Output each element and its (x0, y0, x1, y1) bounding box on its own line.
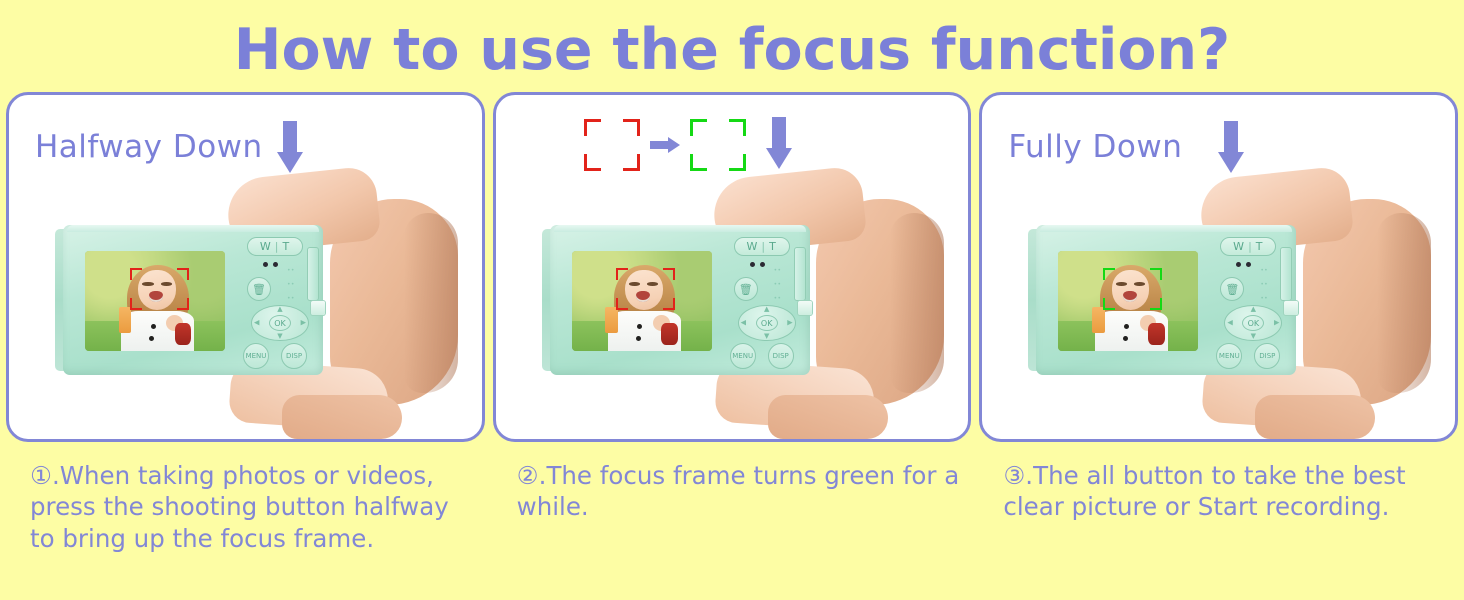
dpad-control[interactable]: ▲ ▼ ◀ ▶ OK (738, 305, 796, 341)
camera-side-slider[interactable] (798, 301, 812, 315)
caption-row: ①.When taking photos or videos, press th… (0, 442, 1464, 592)
focus-frame-green (1103, 268, 1162, 310)
camera-illustration: W | T 🗑 ▲ ▼ ◀ ▶ OK (9, 165, 482, 439)
dpad-right-icon[interactable]: ▶ (1274, 320, 1279, 327)
caption-number: ③. (1003, 461, 1033, 490)
panel-header (752, 117, 792, 169)
panel-label: Halfway Down (35, 129, 263, 165)
camera-side-strip (794, 247, 806, 301)
caption-step-3: ③.The all button to take the best clear … (979, 460, 1458, 592)
camera-side-mark: •• (774, 281, 782, 288)
trash-icon[interactable]: 🗑 (1220, 277, 1244, 301)
page-title: How to use the focus function? (0, 0, 1464, 92)
dpad-left-icon[interactable]: ◀ (741, 320, 746, 327)
panel-header: Halfway Down (35, 121, 303, 173)
menu-button[interactable]: MENU (730, 343, 756, 369)
dpad-right-icon[interactable]: ▶ (301, 320, 306, 327)
panel-header: Fully Down (1008, 121, 1244, 173)
menu-button[interactable]: MENU (1216, 343, 1242, 369)
dpad-left-icon[interactable]: ◀ (254, 320, 259, 327)
caption-text: The all button to take the best clear pi… (1003, 461, 1405, 521)
arrow-down-icon (766, 117, 792, 169)
indicator-leds (750, 262, 765, 267)
dpad-up-icon[interactable]: ▲ (277, 306, 282, 313)
focus-frame-red (130, 268, 189, 310)
camera-side-strip (307, 247, 319, 301)
trash-icon[interactable]: 🗑 (734, 277, 758, 301)
panel-focus-turns-green: W | T 🗑 ▲ ▼ ◀ ▶ OK (493, 92, 972, 442)
panel-label: Fully Down (1008, 129, 1182, 165)
dpad-right-icon[interactable]: ▶ (787, 320, 792, 327)
zoom-rocker-button[interactable]: W | T (734, 237, 790, 256)
camera-side-strip (1280, 247, 1292, 301)
indicator-leds (1236, 262, 1251, 267)
dpad-down-icon[interactable]: ▼ (277, 333, 282, 340)
camera-side-mark: •• (1260, 267, 1268, 274)
camera-side-slider[interactable] (311, 301, 325, 315)
zoom-separator: | (1248, 240, 1253, 253)
camera-lcd-screen (1058, 251, 1198, 351)
camera-side-mark: •• (287, 267, 295, 274)
camera-side-mark: •• (1260, 281, 1268, 288)
disp-button[interactable]: DISP (768, 343, 794, 369)
arrow-down-icon (1218, 121, 1244, 173)
dpad-left-icon[interactable]: ◀ (1227, 320, 1232, 327)
bracket-frame-green-icon (690, 119, 746, 171)
focus-frame-transition-graphic (584, 119, 746, 171)
camera-illustration: W | T 🗑 ▲ ▼ ◀ ▶ OK (496, 165, 969, 439)
ok-button[interactable]: OK (756, 315, 778, 331)
zoom-tele-label: T (1256, 240, 1264, 253)
caption-text: When taking photos or videos, press the … (30, 461, 449, 553)
panel-row: Halfway Down (0, 92, 1464, 442)
menu-button[interactable]: MENU (243, 343, 269, 369)
zoom-wide-label: W (747, 240, 759, 253)
caption-number: ①. (30, 461, 60, 490)
camera-lcd-screen (572, 251, 712, 351)
camera-side-mark: •• (1260, 295, 1268, 302)
dpad-control[interactable]: ▲ ▼ ◀ ▶ OK (251, 305, 309, 341)
caption-number: ②. (517, 461, 547, 490)
indicator-leds (263, 262, 278, 267)
ok-button[interactable]: OK (269, 315, 291, 331)
ok-button[interactable]: OK (1242, 315, 1264, 331)
dpad-control[interactable]: ▲ ▼ ◀ ▶ OK (1224, 305, 1282, 341)
caption-step-1: ①.When taking photos or videos, press th… (6, 460, 485, 592)
caption-text: The focus frame turns green for a while. (517, 461, 960, 521)
camera-side-mark: •• (774, 295, 782, 302)
camera-body: W | T 🗑 ▲ ▼ ◀ ▶ OK (542, 225, 810, 377)
dpad-up-icon[interactable]: ▲ (764, 306, 769, 313)
camera-body: W | T 🗑 ▲ ▼ ◀ ▶ OK (1028, 225, 1296, 377)
zoom-tele-label: T (282, 240, 290, 253)
camera-side-mark: •• (287, 295, 295, 302)
zoom-wide-label: W (1233, 240, 1245, 253)
trash-icon[interactable]: 🗑 (247, 277, 271, 301)
focus-frame-red (616, 268, 675, 310)
camera-side-mark: •• (774, 267, 782, 274)
camera-side-mark: •• (287, 281, 295, 288)
dpad-up-icon[interactable]: ▲ (1251, 306, 1256, 313)
bracket-frame-red-icon (584, 119, 640, 171)
zoom-wide-label: W (260, 240, 272, 253)
panel-fully-down: Fully Down (979, 92, 1458, 442)
zoom-rocker-button[interactable]: W | T (247, 237, 303, 256)
camera-lcd-screen (85, 251, 225, 351)
dpad-down-icon[interactable]: ▼ (764, 333, 769, 340)
camera-illustration: W | T 🗑 ▲ ▼ ◀ ▶ OK (982, 165, 1455, 439)
dpad-down-icon[interactable]: ▼ (1251, 333, 1256, 340)
zoom-separator: | (761, 240, 766, 253)
panel-halfway-down: Halfway Down (6, 92, 485, 442)
zoom-separator: | (275, 240, 280, 253)
camera-side-slider[interactable] (1284, 301, 1298, 315)
disp-button[interactable]: DISP (1254, 343, 1280, 369)
zoom-tele-label: T (769, 240, 777, 253)
caption-step-2: ②.The focus frame turns green for a whil… (493, 460, 972, 592)
arrow-right-icon (650, 137, 680, 153)
zoom-rocker-button[interactable]: W | T (1220, 237, 1276, 256)
camera-body: W | T 🗑 ▲ ▼ ◀ ▶ OK (55, 225, 323, 377)
disp-button[interactable]: DISP (281, 343, 307, 369)
arrow-down-icon (277, 121, 303, 173)
